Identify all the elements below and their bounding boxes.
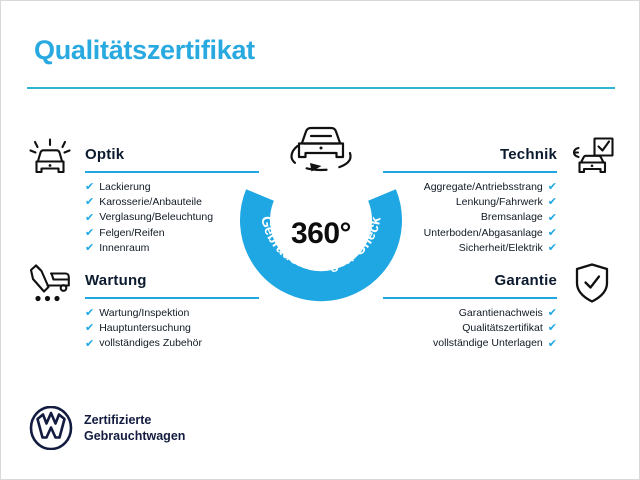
list-item-label: Unterboden/Abgasanlage xyxy=(424,226,543,241)
check-icon: ✔ xyxy=(85,197,94,208)
check-icon: ✔ xyxy=(85,323,94,334)
checklist-optik: ✔Lackierung ✔Karosserie/Anbauteile ✔Verg… xyxy=(85,180,259,256)
certificate-page: Qualitätszertifikat xyxy=(0,0,640,480)
section-optik: Optik ✔Lackierung ✔Karosserie/Anbauteile… xyxy=(85,145,259,256)
list-item: ✔Felgen/Reifen xyxy=(85,226,259,241)
list-item-label: Hauptuntersuchung xyxy=(99,321,191,336)
check-icon: ✔ xyxy=(85,182,94,193)
list-item: Bremsanlage✔ xyxy=(383,210,557,225)
check-icon: ✔ xyxy=(548,182,557,193)
section-header: Optik xyxy=(85,145,259,173)
list-item-label: Garantienachweis xyxy=(459,306,543,321)
list-item-label: Wartung/Inspektion xyxy=(99,306,189,321)
section-header: Technik xyxy=(383,145,557,173)
list-item-label: vollständige Unterlagen xyxy=(433,336,543,351)
list-item: Garantienachweis✔ xyxy=(383,306,557,321)
list-item-label: Sicherheit/Elektrik xyxy=(459,241,543,256)
list-item: Lenkung/Fahrwerk✔ xyxy=(383,195,557,210)
list-item-label: Lackierung xyxy=(99,180,150,195)
check-icon: ✔ xyxy=(548,339,557,350)
vw-footer-line1: Zertifizierte xyxy=(84,412,185,428)
list-item: ✔Hauptuntersuchung xyxy=(85,321,259,336)
list-item: ✔Karosserie/Anbauteile xyxy=(85,195,259,210)
section-garantie: Garantie Garantienachweis✔ Qualitätszert… xyxy=(383,271,557,352)
list-item: Aggregate/Antriebsstrang✔ xyxy=(383,180,557,195)
list-item: ✔vollständiges Zubehör xyxy=(85,336,259,351)
badge-360-gebrauchtwagen-check: Gebrauchtwagen-Check 360° xyxy=(238,119,404,315)
check-icon: ✔ xyxy=(85,339,94,350)
checklist-garantie: Garantienachweis✔ Qualitätszertifikat✔ v… xyxy=(383,306,557,352)
list-item: vollständige Unterlagen✔ xyxy=(383,336,557,351)
section-title-optik: Optik xyxy=(85,145,259,165)
title-divider xyxy=(27,87,615,89)
section-header: Garantie xyxy=(383,271,557,299)
check-icon: ✔ xyxy=(85,243,94,254)
check-icon: ✔ xyxy=(548,213,557,224)
vw-logo-icon xyxy=(29,406,73,450)
check-icon: ✔ xyxy=(548,228,557,239)
section-header: Wartung xyxy=(85,271,259,299)
list-item-label: Felgen/Reifen xyxy=(99,226,164,241)
check-icon: ✔ xyxy=(85,228,94,239)
section-title-technik: Technik xyxy=(383,145,557,165)
check-icon: ✔ xyxy=(85,213,94,224)
wrench-car-icon xyxy=(27,260,73,306)
vw-footer-text: Zertifizierte Gebrauchtwagen xyxy=(84,412,185,444)
badge-degrees: 360° xyxy=(238,217,404,251)
check-icon: ✔ xyxy=(548,323,557,334)
section-technik: Technik Aggregate/Antriebsstrang✔ Lenkun… xyxy=(383,145,557,256)
section-divider xyxy=(383,171,557,173)
list-item: ✔Innenraum xyxy=(85,241,259,256)
list-item: ✔Wartung/Inspektion xyxy=(85,306,259,321)
list-item: Unterboden/Abgasanlage✔ xyxy=(383,226,557,241)
section-title-wartung: Wartung xyxy=(85,271,259,291)
vw-footer-line2: Gebrauchtwagen xyxy=(84,428,185,444)
list-item: ✔Verglasung/Beleuchtung xyxy=(85,210,259,225)
checklist-technik: Aggregate/Antriebsstrang✔ Lenkung/Fahrwe… xyxy=(383,180,557,256)
list-item-label: Karosserie/Anbauteile xyxy=(99,195,202,210)
car-rotation-icon xyxy=(285,119,357,181)
car-shine-icon xyxy=(27,135,73,181)
list-item-label: Innenraum xyxy=(99,241,149,256)
check-icon: ✔ xyxy=(85,308,94,319)
check-icon: ✔ xyxy=(548,197,557,208)
list-item-label: Qualitätszertifikat xyxy=(462,321,543,336)
list-item: ✔Lackierung xyxy=(85,180,259,195)
check-icon: ✔ xyxy=(548,308,557,319)
section-title-garantie: Garantie xyxy=(383,271,557,291)
check-icon: ✔ xyxy=(548,243,557,254)
shield-check-icon xyxy=(569,260,615,306)
vw-certified-footer: Zertifizierte Gebrauchtwagen xyxy=(29,406,185,450)
list-item: Qualitätszertifikat✔ xyxy=(383,321,557,336)
list-item-label: vollständiges Zubehör xyxy=(99,336,202,351)
list-item: Sicherheit/Elektrik✔ xyxy=(383,241,557,256)
section-divider xyxy=(383,297,557,299)
list-item-label: Aggregate/Antriebsstrang xyxy=(424,180,543,195)
list-item-label: Lenkung/Fahrwerk xyxy=(456,195,543,210)
section-wartung: Wartung ✔Wartung/Inspektion ✔Hauptunters… xyxy=(85,271,259,352)
section-divider xyxy=(85,171,259,173)
list-item-label: Verglasung/Beleuchtung xyxy=(99,210,213,225)
section-divider xyxy=(85,297,259,299)
checklist-wartung: ✔Wartung/Inspektion ✔Hauptuntersuchung ✔… xyxy=(85,306,259,352)
page-title: Qualitätszertifikat xyxy=(34,35,255,66)
list-item-label: Bremsanlage xyxy=(481,210,543,225)
car-checkbox-icon xyxy=(569,135,615,181)
